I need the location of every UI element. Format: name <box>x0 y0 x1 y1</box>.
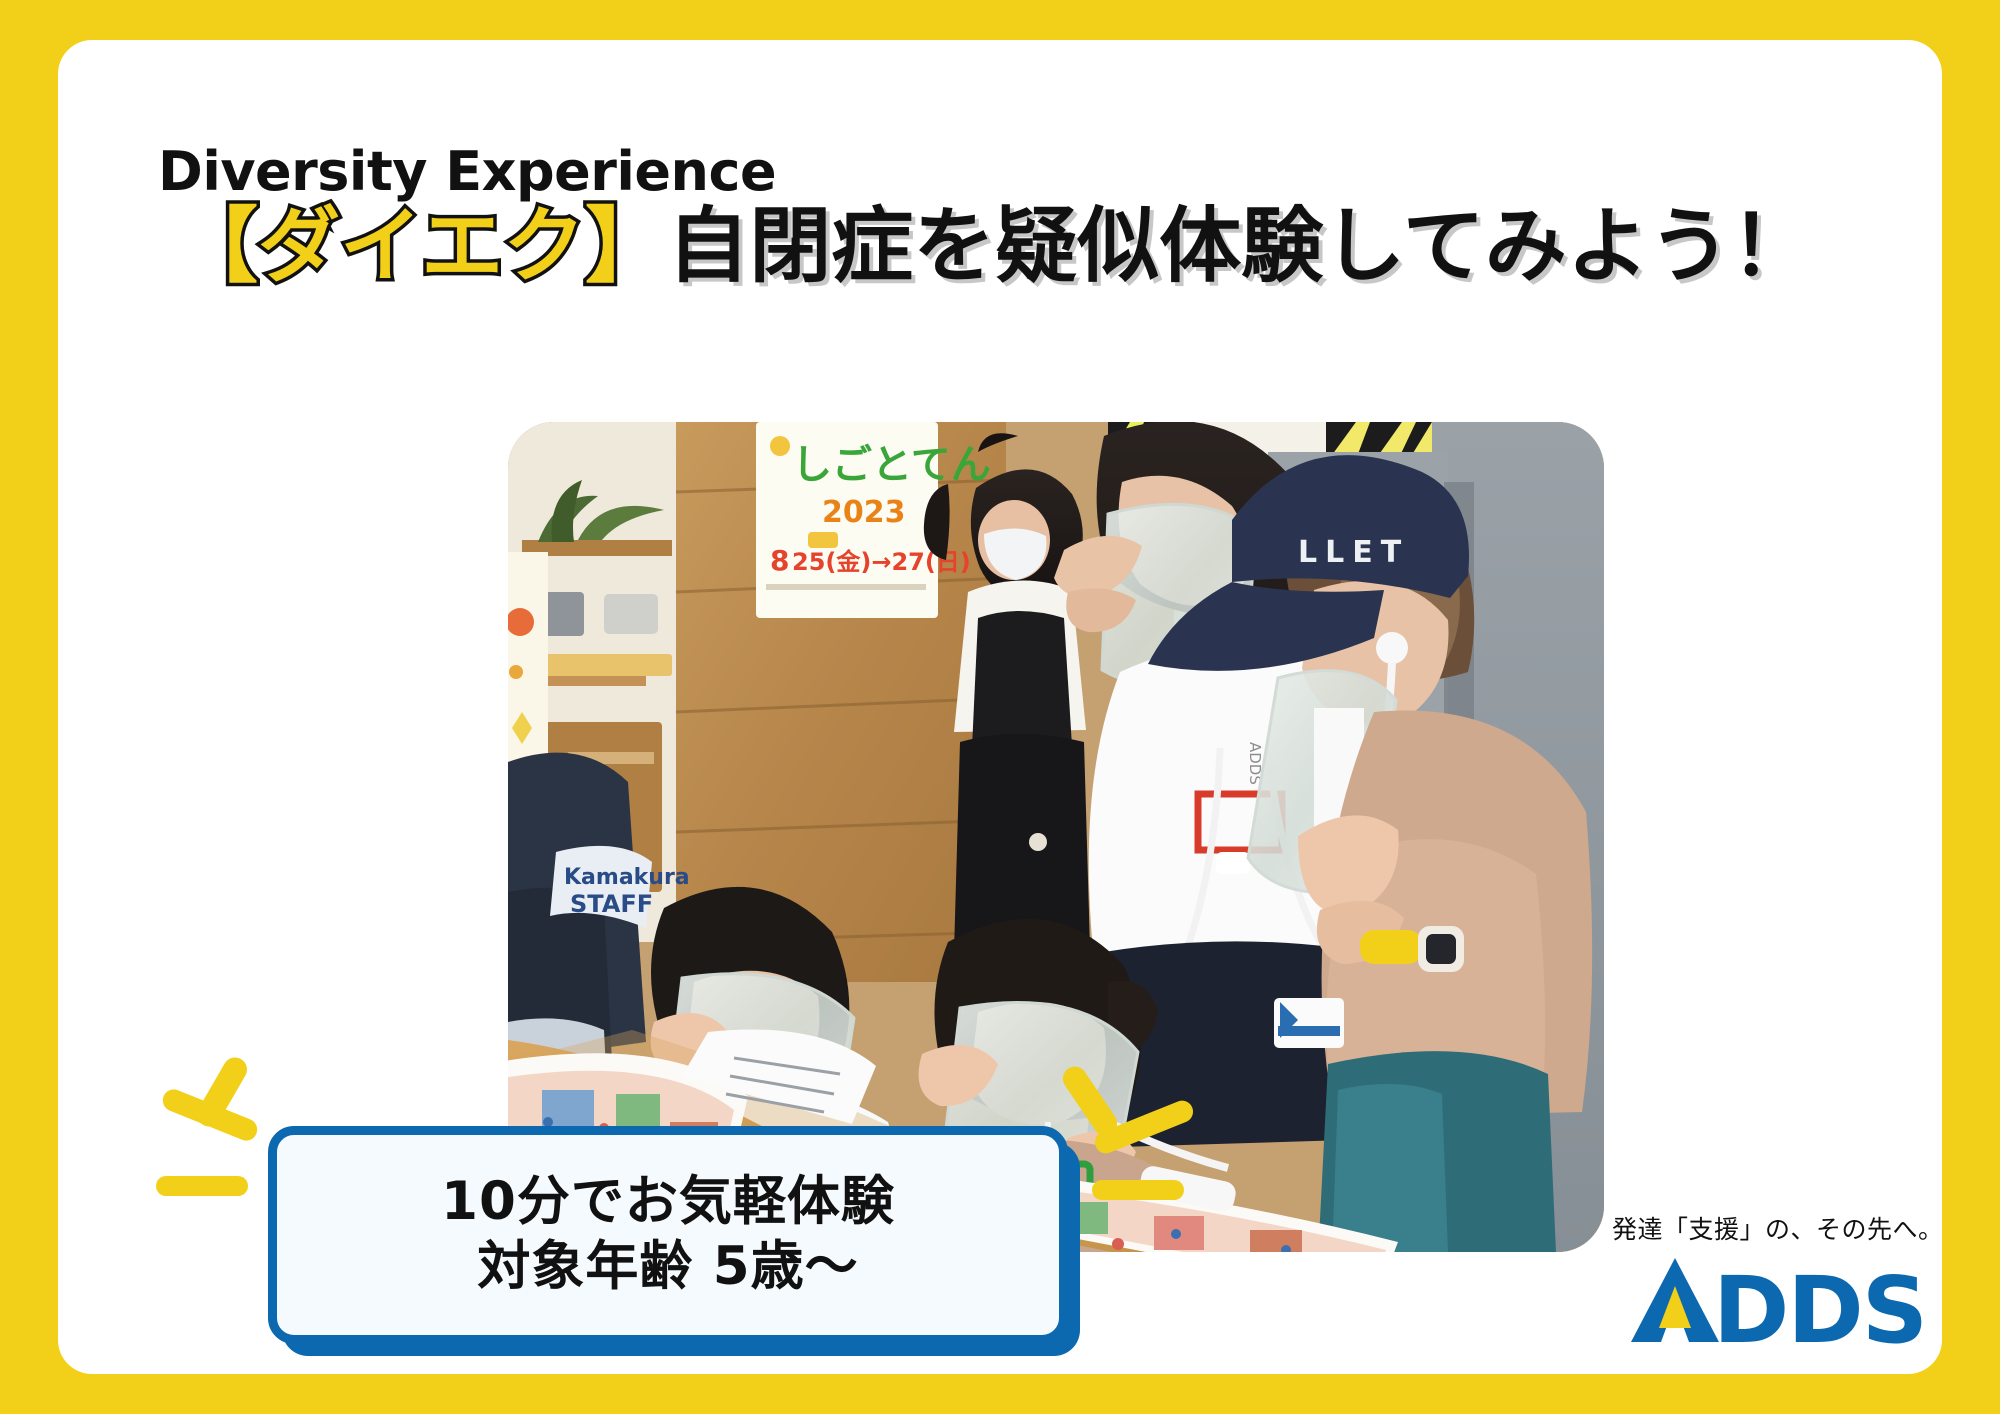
svg-text:しごとてん: しごとてん <box>792 442 991 488</box>
page-title: 【ダイエク】自閉症を疑似体験してみよう！ <box>176 200 1813 294</box>
headline-brand: 【ダイエク】 <box>176 199 667 294</box>
svg-text:LLET: LLET <box>1298 535 1409 570</box>
scene-yellow-wristband <box>1360 930 1422 964</box>
logo-tagline: 発達「支援」の、その先へ。 <box>1612 1210 1942 1246</box>
svg-text:8: 8 <box>770 544 789 577</box>
svg-text:STAFF: STAFF <box>570 890 653 918</box>
eyebrow-text: Diversity Experience <box>158 140 776 203</box>
adds-logo-block: 発達「支援」の、その先へ。 DDS <box>1612 1210 1942 1353</box>
adds-logo-icon: DDS <box>1627 1252 1927 1348</box>
info-badge-line-2: 対象年齢 5歳〜 <box>477 1235 858 1300</box>
svg-text:Kamakura: Kamakura <box>564 865 690 890</box>
svg-text:DDS: DDS <box>1713 1257 1926 1348</box>
poster-inner-card: Diversity Experience 【ダイエク】自閉症を疑似体験してみよう… <box>58 40 1942 1374</box>
poster-root: Diversity Experience 【ダイエク】自閉症を疑似体験してみよう… <box>0 0 2000 1414</box>
info-badge: 10分でお気軽体験 対象年齢 5歳〜 <box>268 1126 1080 1356</box>
info-badge-line-1: 10分でお気軽体験 <box>441 1170 895 1235</box>
headline-main: 自閉症を疑似体験してみよう！ <box>667 199 1813 294</box>
info-badge-box: 10分でお気軽体験 対象年齢 5歳〜 <box>268 1126 1068 1344</box>
svg-text:2023: 2023 <box>822 495 906 530</box>
